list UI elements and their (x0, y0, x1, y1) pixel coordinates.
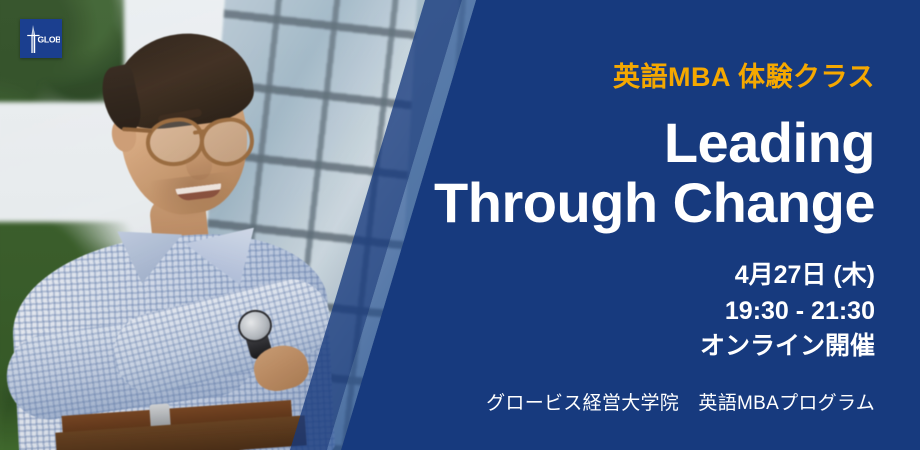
event-format: オンライン開催 (405, 329, 875, 365)
footer-program-label: グロービス経営大学院 英語MBAプログラム (405, 388, 875, 415)
title-line-2: Through Change (405, 173, 875, 233)
banner-text-block: 英語MBA 体験クラス Leading Through Change 4月27日… (405, 0, 875, 450)
svg-text:GLOBIS: GLOBIS (38, 34, 61, 44)
photo-person (0, 0, 330, 450)
event-date: 4月27日 (木) (405, 258, 875, 294)
event-details: 4月27日 (木) 19:30 - 21:30 オンライン開催 (405, 258, 875, 365)
globis-logo-badge[interactable]: GLOBIS (20, 19, 62, 58)
globis-logo-icon: GLOBIS (22, 22, 60, 56)
eyebrow-label: 英語MBA 体験クラス (405, 64, 875, 91)
event-time: 19:30 - 21:30 (405, 294, 875, 330)
promo-banner: GLOBIS 英語MBA 体験クラス Leading Through Chang… (0, 0, 920, 450)
title-line-1: Leading (664, 111, 875, 174)
banner-title: Leading Through Change (405, 113, 875, 233)
